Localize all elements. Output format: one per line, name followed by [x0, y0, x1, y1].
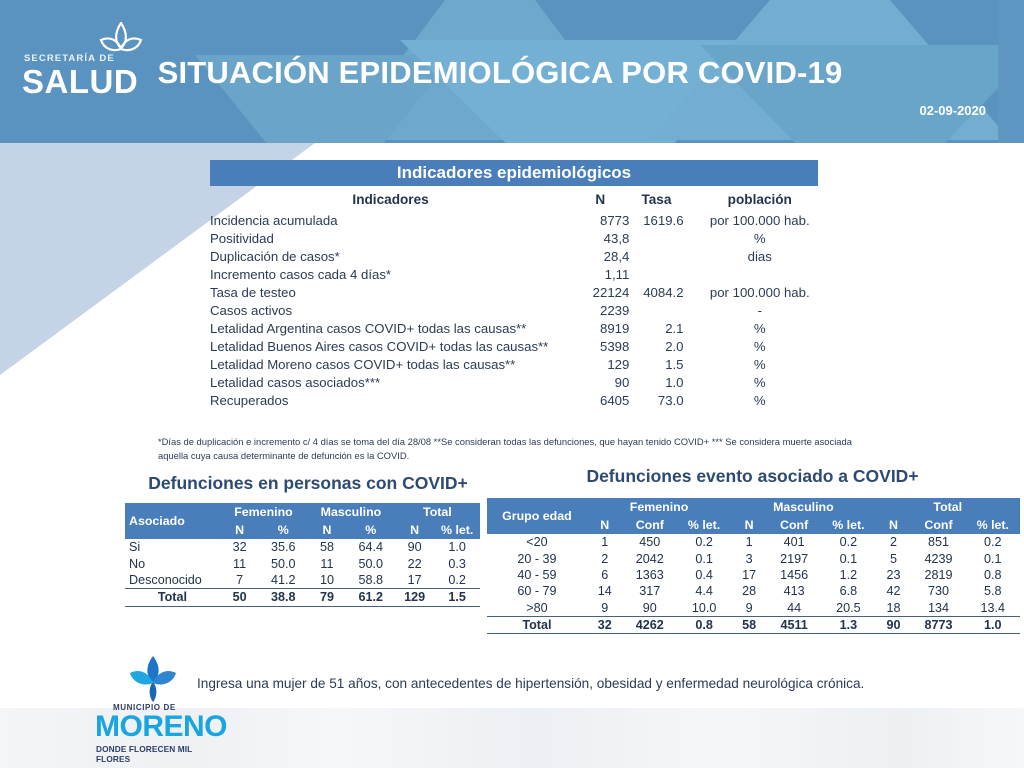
indicator-poblacion: %	[690, 355, 830, 373]
row-label: 60 - 79	[487, 583, 587, 599]
cell-masculino-pct: 64.4	[347, 539, 395, 555]
table-row: >80 9 90 10.0 9 44 20.5 18 134 13.4	[487, 600, 1020, 617]
indicator-label: Letalidad Argentina casos COVID+ todas l…	[210, 319, 571, 337]
cell-femenino-let: 0.1	[677, 550, 731, 566]
page-title: SITUACIÓN EPIDEMIOLÓGICA POR COVID-19	[0, 55, 1000, 91]
indicator-tasa: 2.1	[629, 319, 689, 337]
row-label: Total	[487, 616, 587, 633]
table-row: 60 - 79 14 317 4.4 28 413 6.8 42 730 5.8	[487, 583, 1020, 599]
cell-total-conf: 730	[911, 583, 965, 599]
indicator-poblacion: %	[690, 391, 830, 409]
table-row: Letalidad Argentina casos COVID+ todas l…	[210, 319, 830, 337]
col-header-poblacion: población	[690, 190, 830, 211]
cell-femenino-n: 11	[220, 555, 259, 571]
row-label: >80	[487, 600, 587, 617]
cell-total-n: 90	[876, 616, 912, 633]
col-header-total-n: N	[876, 516, 912, 534]
indicator-n: 1,11	[571, 265, 629, 283]
col-header-asociado: Asociado	[125, 503, 220, 539]
col-header-indicadores: Indicadores	[210, 190, 571, 211]
indicator-label: Casos activos	[210, 301, 571, 319]
cell-total-n: 2	[876, 534, 912, 550]
cell-femenino-n: 7	[220, 572, 259, 589]
slide-canvas: SECRETARÍA DE SALUD SITUACIÓN EPIDEMIOLÓ…	[0, 0, 1024, 768]
indicator-poblacion: dias	[690, 247, 830, 265]
indicator-tasa: 73.0	[629, 391, 689, 409]
cell-total-let: 1.5	[434, 589, 480, 606]
table-row: Letalidad casos asociados*** 90 1.0 %	[210, 373, 830, 391]
deaths-with-covid-table: Asociado Femenino Masculino Total N % N …	[125, 503, 480, 607]
indicator-label: Letalidad casos asociados***	[210, 373, 571, 391]
row-label: 20 - 39	[487, 550, 587, 566]
cell-total-n: 129	[395, 589, 435, 606]
cell-total-let: 0.8	[966, 567, 1020, 583]
cell-total-n: 90	[395, 539, 435, 555]
cell-femenino-conf: 2042	[623, 550, 677, 566]
col-header-femenino: Femenino	[587, 498, 731, 516]
cell-femenino-let: 0.8	[677, 616, 731, 633]
slide-header: SECRETARÍA DE SALUD SITUACIÓN EPIDEMIOLÓ…	[0, 0, 1024, 143]
cell-femenino-pct: 38.8	[259, 589, 307, 606]
cell-masculino-conf: 413	[767, 583, 821, 599]
cell-total-let: 13.4	[966, 600, 1020, 617]
cell-total-n: 23	[876, 567, 912, 583]
cell-total-let: 0.1	[966, 550, 1020, 566]
cell-masculino-let: 20.5	[821, 600, 875, 617]
cell-femenino-n: 6	[587, 567, 623, 583]
cell-masculino-n: 10	[307, 572, 347, 589]
cell-total-let: 0.2	[434, 572, 480, 589]
table-row: Casos activos 2239 -	[210, 301, 830, 319]
col-header-masculino-conf: Conf	[767, 516, 821, 534]
col-header-total: Total	[876, 498, 1020, 516]
cell-femenino-conf: 90	[623, 600, 677, 617]
indicator-poblacion: %	[690, 319, 830, 337]
header-right-band	[998, 0, 1024, 143]
cell-total-let: 1.0	[966, 616, 1020, 633]
indicator-tasa: 2.0	[629, 337, 689, 355]
row-label: Desconocido	[125, 572, 220, 589]
cell-femenino-let: 10.0	[677, 600, 731, 617]
row-label: 40 - 59	[487, 567, 587, 583]
cell-total-n: 42	[876, 583, 912, 599]
col-header-total: Total	[395, 503, 480, 521]
cell-femenino-n: 1	[587, 534, 623, 550]
indicator-label: Duplicación de casos*	[210, 247, 571, 265]
moreno-logo-line2: MORENO	[95, 710, 227, 744]
indicator-tasa	[629, 229, 689, 247]
indicator-tasa	[629, 301, 689, 319]
col-header-total-let: % let.	[966, 516, 1020, 534]
cell-masculino-conf: 401	[767, 534, 821, 550]
cell-femenino-let: 0.4	[677, 567, 731, 583]
group-header-row: Grupo edad Femenino Masculino Total	[487, 498, 1020, 516]
cell-femenino-n: 2	[587, 550, 623, 566]
indicator-poblacion: -	[690, 301, 830, 319]
col-header-femenino-let: % let.	[677, 516, 731, 534]
table-total-row: Total 32 4262 0.8 58 4511 1.3 90 8773 1.…	[487, 616, 1020, 633]
col-header-masculino: Masculino	[731, 498, 875, 516]
cell-total-conf: 851	[911, 534, 965, 550]
cell-masculino-let: 1.2	[821, 567, 875, 583]
table-row: <20 1 450 0.2 1 401 0.2 2 851 0.2	[487, 534, 1020, 550]
table-row: 40 - 59 6 1363 0.4 17 1456 1.2 23 2819 0…	[487, 567, 1020, 583]
col-header-masculino-n: N	[307, 521, 347, 539]
col-header-total-conf: Conf	[911, 516, 965, 534]
col-header-masculino: Masculino	[307, 503, 395, 521]
indicator-label: Tasa de testeo	[210, 283, 571, 301]
indicators-footnote: *Días de duplicación e incremento c/ 4 d…	[158, 435, 868, 462]
row-label: Total	[125, 589, 220, 606]
indicator-poblacion: por 100.000 hab.	[690, 283, 830, 301]
cell-femenino-n: 9	[587, 600, 623, 617]
cell-femenino-conf: 4262	[623, 616, 677, 633]
table-row: Positividad 43,8 %	[210, 229, 830, 247]
cell-masculino-conf: 44	[767, 600, 821, 617]
indicator-poblacion: %	[690, 337, 830, 355]
report-date: 02-09-2020	[920, 103, 987, 118]
cell-femenino-n: 32	[220, 539, 259, 555]
indicator-tasa: 1.5	[629, 355, 689, 373]
cell-masculino-conf: 4511	[767, 616, 821, 633]
indicator-n: 2239	[571, 301, 629, 319]
col-header-femenino-pct: %	[259, 521, 307, 539]
cell-masculino-n: 58	[307, 539, 347, 555]
cell-total-let: 5.8	[966, 583, 1020, 599]
indicator-label: Incidencia acumulada	[210, 211, 571, 229]
table-row: No 11 50.0 11 50.0 22 0.3	[125, 555, 480, 571]
indicator-tasa	[629, 265, 689, 283]
table-row: Letalidad Moreno casos COVID+ todas las …	[210, 355, 830, 373]
cell-femenino-pct: 50.0	[259, 555, 307, 571]
indicator-n: 28,4	[571, 247, 629, 265]
col-header-n: N	[571, 190, 629, 211]
cell-total-n: 5	[876, 550, 912, 566]
cell-total-n: 17	[395, 572, 435, 589]
cell-masculino-n: 58	[731, 616, 767, 633]
cell-masculino-n: 3	[731, 550, 767, 566]
indicator-poblacion: por 100.000 hab.	[690, 211, 830, 229]
cell-masculino-conf: 2197	[767, 550, 821, 566]
indicator-tasa: 1.0	[629, 373, 689, 391]
table-row: Incidencia acumulada 8773 1619.6 por 100…	[210, 211, 830, 229]
cell-femenino-pct: 41.2	[259, 572, 307, 589]
indicator-label: Positividad	[210, 229, 571, 247]
indicator-n: 43,8	[571, 229, 629, 247]
moreno-logo-line3: DONDE FLORECEN MIL FLORES	[96, 744, 200, 764]
table-total-row: Total 50 38.8 79 61.2 129 1.5	[125, 589, 480, 606]
col-header-masculino-pct: %	[347, 521, 395, 539]
indicator-n: 8773	[571, 211, 629, 229]
col-header-grupo-edad: Grupo edad	[487, 498, 587, 534]
indicator-label: Letalidad Buenos Aires casos COVID+ toda…	[210, 337, 571, 355]
cell-masculino-n: 17	[731, 567, 767, 583]
cell-total-n: 18	[876, 600, 912, 617]
indicator-n: 8919	[571, 319, 629, 337]
case-note-text: Ingresa una mujer de 51 años, con antece…	[197, 673, 965, 694]
col-header-femenino-n: N	[587, 516, 623, 534]
cell-femenino-let: 0.2	[677, 534, 731, 550]
indicator-tasa	[629, 247, 689, 265]
row-label: Si	[125, 539, 220, 555]
cell-total-conf: 134	[911, 600, 965, 617]
table-row: Letalidad Buenos Aires casos COVID+ toda…	[210, 337, 830, 355]
cell-total-let: 0.3	[434, 555, 480, 571]
col-header-total-n: N	[395, 521, 435, 539]
indicator-label: Recuperados	[210, 391, 571, 409]
cell-femenino-n: 14	[587, 583, 623, 599]
cell-masculino-n: 9	[731, 600, 767, 617]
cell-masculino-pct: 50.0	[347, 555, 395, 571]
col-header-masculino-n: N	[731, 516, 767, 534]
cell-total-conf: 8773	[911, 616, 965, 633]
cell-femenino-let: 4.4	[677, 583, 731, 599]
group-header-row: Asociado Femenino Masculino Total	[125, 503, 480, 521]
cell-masculino-let: 1.3	[821, 616, 875, 633]
table-row: Si 32 35.6 58 64.4 90 1.0	[125, 539, 480, 555]
cell-masculino-n: 28	[731, 583, 767, 599]
cell-total-let: 1.0	[434, 539, 480, 555]
col-header-femenino: Femenino	[220, 503, 307, 521]
cell-femenino-conf: 450	[623, 534, 677, 550]
indicator-poblacion: %	[690, 373, 830, 391]
indicator-tasa: 1619.6	[629, 211, 689, 229]
cell-total-conf: 4239	[911, 550, 965, 566]
indicator-poblacion: %	[690, 229, 830, 247]
cell-masculino-n: 1	[731, 534, 767, 550]
indicator-n: 90	[571, 373, 629, 391]
cell-femenino-n: 50	[220, 589, 259, 606]
indicators-header-row: Indicadores N Tasa población	[210, 190, 830, 211]
table-row: Tasa de testeo 22124 4084.2 por 100.000 …	[210, 283, 830, 301]
deaths-associated-heading: Defunciones evento asociado a COVID+	[485, 466, 1020, 487]
row-label: No	[125, 555, 220, 571]
col-header-masculino-let: % let.	[821, 516, 875, 534]
cell-femenino-pct: 35.6	[259, 539, 307, 555]
cell-masculino-let: 0.2	[821, 534, 875, 550]
table-row: Recuperados 6405 73.0 %	[210, 391, 830, 409]
cell-masculino-n: 11	[307, 555, 347, 571]
indicator-label: Letalidad Moreno casos COVID+ todas las …	[210, 355, 571, 373]
indicator-n: 22124	[571, 283, 629, 301]
table-row: Desconocido 7 41.2 10 58.8 17 0.2	[125, 572, 480, 589]
cell-total-conf: 2819	[911, 567, 965, 583]
indicator-n: 129	[571, 355, 629, 373]
cell-masculino-conf: 1456	[767, 567, 821, 583]
cell-masculino-let: 0.1	[821, 550, 875, 566]
cell-masculino-let: 6.8	[821, 583, 875, 599]
cell-femenino-conf: 317	[623, 583, 677, 599]
indicator-label: Incremento casos cada 4 días*	[210, 265, 571, 283]
col-header-tasa: Tasa	[629, 190, 689, 211]
row-label: <20	[487, 534, 587, 550]
indicator-poblacion	[690, 265, 830, 283]
col-header-total-let: % let.	[434, 521, 480, 539]
flower-icon	[125, 655, 181, 705]
cell-masculino-pct: 61.2	[347, 589, 395, 606]
municipio-de-moreno-logo: MUNICIPIO DE MORENO DONDE FLORECEN MIL F…	[95, 655, 200, 760]
cell-total-let: 0.2	[966, 534, 1020, 550]
col-header-femenino-conf: Conf	[623, 516, 677, 534]
cell-total-n: 22	[395, 555, 435, 571]
col-header-femenino-n: N	[220, 521, 259, 539]
cell-femenino-n: 32	[587, 616, 623, 633]
table-row: Duplicación de casos* 28,4 dias	[210, 247, 830, 265]
cell-masculino-n: 79	[307, 589, 347, 606]
indicator-n: 5398	[571, 337, 629, 355]
cell-masculino-pct: 58.8	[347, 572, 395, 589]
cell-femenino-conf: 1363	[623, 567, 677, 583]
deaths-associated-table: Grupo edad Femenino Masculino Total N Co…	[487, 498, 1020, 634]
indicators-table: Indicadores N Tasa población Incidencia …	[210, 190, 830, 409]
indicators-panel-title: Indicadores epidemiológicos	[210, 160, 818, 186]
table-row: Incremento casos cada 4 días* 1,11	[210, 265, 830, 283]
table-row: 20 - 39 2 2042 0.1 3 2197 0.1 5 4239 0.1	[487, 550, 1020, 566]
deaths-with-covid-heading: Defunciones en personas con COVID+	[118, 473, 498, 494]
indicator-tasa: 4084.2	[629, 283, 689, 301]
indicator-n: 6405	[571, 391, 629, 409]
